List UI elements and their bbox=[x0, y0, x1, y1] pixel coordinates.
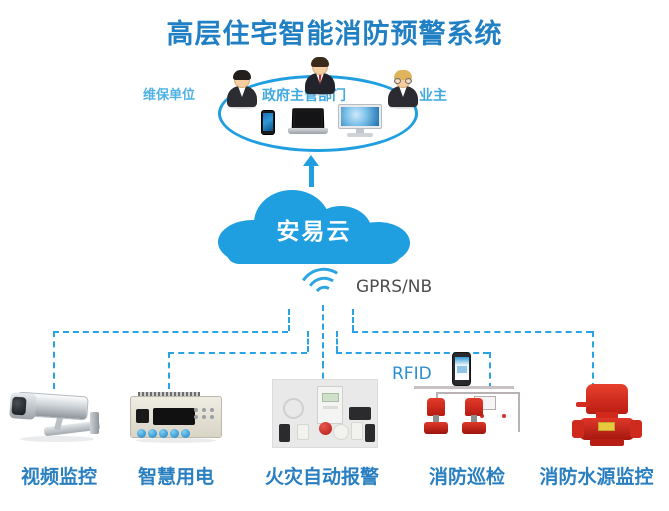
camera-lens bbox=[11, 397, 26, 416]
laptop-lid bbox=[292, 108, 325, 129]
indicator-leds bbox=[194, 408, 216, 426]
subsystem-label-water: 消防水源监控 bbox=[524, 462, 669, 489]
pump-flange-right bbox=[630, 420, 642, 438]
alarm-device bbox=[351, 422, 363, 440]
smartphone-icon bbox=[261, 110, 275, 135]
smartphone-screen bbox=[263, 113, 273, 131]
ring-label-owner: 业主 bbox=[419, 85, 447, 105]
fire-pump-unit bbox=[424, 398, 448, 434]
avatar-government bbox=[303, 56, 337, 94]
wifi-icon bbox=[293, 263, 351, 307]
monitor-foot bbox=[347, 133, 373, 137]
laptop-icon bbox=[288, 108, 328, 136]
laptop-base bbox=[288, 128, 328, 134]
glasses-icon bbox=[394, 78, 412, 84]
connector-riser-left bbox=[288, 309, 290, 331]
rfid-phone-icon bbox=[452, 352, 471, 386]
cctv-camera-icon bbox=[10, 388, 106, 448]
rfid-phone-screen bbox=[455, 357, 469, 380]
avatar-owner bbox=[386, 69, 420, 107]
connector-riser-mid-right bbox=[336, 331, 338, 352]
device-shadow bbox=[136, 438, 216, 443]
pipe-header bbox=[436, 392, 520, 394]
connector-bus-mid-left bbox=[168, 352, 307, 354]
alarm-control-panel bbox=[317, 386, 343, 424]
alarm-module bbox=[349, 407, 371, 420]
arrow-shaft bbox=[309, 163, 314, 187]
valve-marker bbox=[502, 414, 506, 418]
fire-alarm-system-icon bbox=[272, 379, 378, 448]
diagram-canvas: 高层住宅智能消防预警系统 维保单位 政府主管部门 业主 bbox=[0, 0, 669, 511]
rfid-label: RFID bbox=[392, 364, 432, 384]
fire-pump-inspection-icon bbox=[414, 386, 526, 448]
pump-motor bbox=[586, 384, 628, 414]
alarm-ring-part bbox=[283, 398, 304, 419]
connector-branch-water-pump bbox=[592, 331, 594, 389]
connector-bus-top-left bbox=[53, 331, 288, 333]
pump-casing bbox=[462, 422, 486, 434]
fire-pump-unit bbox=[462, 398, 486, 434]
ring-label-maintenance: 维保单位 bbox=[143, 84, 195, 103]
pump-motor bbox=[427, 398, 445, 416]
segment-display bbox=[136, 409, 149, 423]
desktop-monitor-icon bbox=[338, 104, 382, 137]
subsystem-label-video: 视频监控 bbox=[0, 462, 118, 489]
cloud-label: 安易云 bbox=[0, 212, 628, 246]
pump-casing bbox=[424, 422, 448, 434]
pump-flange-left bbox=[572, 420, 584, 438]
connector-branch-power bbox=[168, 352, 170, 389]
pump-foot bbox=[590, 439, 624, 446]
device-shadow bbox=[20, 436, 94, 442]
alarm-button bbox=[319, 422, 332, 435]
alarm-device bbox=[365, 424, 375, 442]
page-title: 高层住宅智能消防预警系统 bbox=[0, 12, 669, 51]
lcd-display bbox=[153, 408, 195, 425]
panel-keys bbox=[323, 406, 338, 409]
connector-riser-mid-left bbox=[307, 331, 309, 352]
avatar-hair bbox=[311, 57, 329, 67]
subsystem-label-power: 智慧用电 bbox=[117, 462, 235, 489]
avatar-maintenance bbox=[225, 69, 259, 107]
fire-water-pump-icon bbox=[572, 384, 642, 448]
subsystem-label-inspection: 消防巡检 bbox=[408, 462, 526, 489]
pump-nameplate bbox=[598, 422, 615, 431]
camera-base bbox=[90, 412, 99, 434]
monitor-housing bbox=[130, 396, 222, 438]
monitor-panel bbox=[338, 104, 382, 129]
connector-bus-top-right bbox=[352, 331, 592, 333]
power-monitor-icon bbox=[130, 392, 222, 444]
smoke-detector bbox=[333, 424, 349, 440]
laptop-screen bbox=[295, 111, 321, 126]
arrow-up-icon bbox=[303, 155, 319, 187]
connector-branch-pumps bbox=[489, 352, 491, 389]
pipe-manifold bbox=[414, 386, 514, 389]
network-label: GPRS/NB bbox=[356, 277, 432, 297]
connector-riser-right bbox=[352, 309, 354, 331]
monitor-screen bbox=[341, 107, 379, 126]
panel-display bbox=[322, 393, 339, 402]
alarm-device bbox=[297, 424, 309, 440]
pump-motor bbox=[465, 398, 483, 416]
connector-branch-camera bbox=[53, 331, 55, 389]
avatar-hair bbox=[233, 70, 251, 80]
alarm-device bbox=[279, 424, 290, 442]
pipe-riser bbox=[518, 392, 520, 432]
pump-bracket bbox=[576, 402, 590, 407]
button-row bbox=[137, 429, 191, 438]
subsystem-label-fire-alarm: 火灾自动报警 bbox=[252, 462, 392, 489]
